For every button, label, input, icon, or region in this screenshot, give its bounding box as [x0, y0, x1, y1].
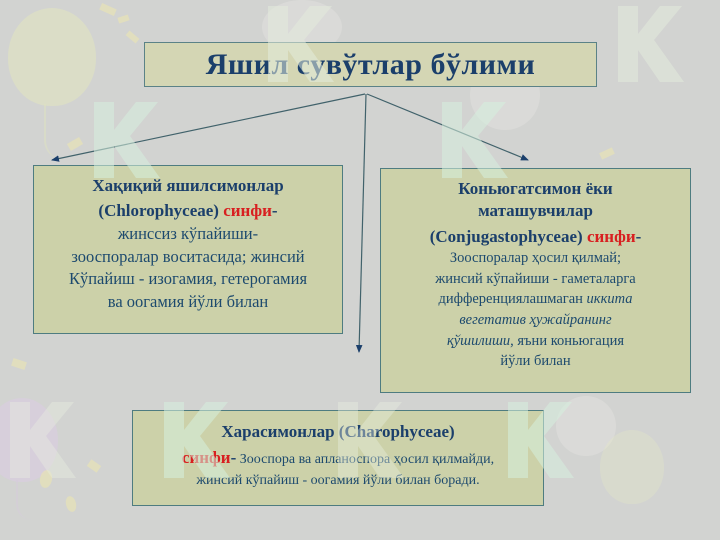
arrow-to-charophyceae [359, 94, 366, 352]
confetti-shape [87, 459, 101, 472]
conjugatophyceae-line-2: жинсий кўпайиши - гаметаларга [385, 269, 686, 290]
conjugatophyceae-accent-word: синфи [587, 227, 636, 246]
charophyceae-heading: Харасимонлар (Charophyceae) [139, 421, 537, 443]
confetti-shape [117, 14, 129, 23]
balloon-decoration [8, 8, 96, 106]
confetti-shape [67, 137, 83, 151]
chlorophyceae-line-2: зооспоралар воситасида; жинсий [40, 246, 336, 269]
balloon-string [44, 104, 64, 160]
chlorophyceae-heading: Хақиқий яшилсимонлар [40, 175, 336, 197]
conjugatophyceae-latin-line: (Conjugastophyceae) синфи- [385, 226, 686, 248]
confetti-shape [64, 495, 78, 513]
charophyceae-line-2: жинсий кўпайиш - оогамия йўли билан бора… [139, 471, 537, 491]
slide-canvas: Яшил сувўтлар бўлими Хақиқий яшилсимонла… [0, 0, 720, 540]
halo-shape [556, 396, 616, 456]
confetti-shape [39, 469, 54, 489]
balloon-string [16, 480, 32, 520]
page-title: Яшил сувўтлар бўлими [206, 50, 536, 80]
conjugatophyceae-dash: - [636, 227, 642, 246]
charophyceae-line-1: синфи- Зооспора ва апланоспора ҳосил қил… [139, 446, 537, 470]
conjugatophyceae-latin-name: (Conjugastophyceae) [430, 227, 583, 246]
charophyceae-accent-word: синфи [182, 448, 231, 467]
chlorophyceae-line-1: жинссиз кўпайиши- [40, 223, 336, 246]
content-box-charophyceae: Харасимонлар (Charophyceae) синфи- Зоосп… [132, 410, 544, 506]
charophyceae-line-1-rest: Зооспора ва апланоспора ҳосил қилмайди, [236, 452, 494, 467]
conjugatophyceae-heading-line-1: Коньюгатсимон ёки [385, 178, 686, 200]
watermark-k-logo [608, 0, 686, 88]
conjugatophyceae-line-5-rest: , яъни коньюгация [510, 333, 624, 349]
balloon-decoration [0, 398, 58, 482]
conjugatophyceae-line-1: Зооспоралар ҳосил қилмай; [385, 248, 686, 269]
confetti-shape [99, 3, 116, 16]
arrow-to-chlorophyceae [52, 94, 365, 160]
chlorophyceae-line-3: Кўпайиш - изогамия, гетерогамия [40, 268, 336, 291]
chlorophyceae-dash: - [272, 201, 278, 220]
watermark-k-logo [0, 396, 78, 484]
slide-title-box: Яшил сувўтлар бўлими [144, 42, 597, 87]
conjugatophyceae-line-3-italic: иккита [587, 291, 633, 307]
arrow-to-conjugatophyceae [367, 94, 528, 160]
conjugatophyceae-line-3: дифференциялашмаган иккита [385, 289, 686, 310]
conjugatophyceae-line-6: йўли билан [385, 351, 686, 372]
conjugatophyceae-heading-line-2: маташувчилар [385, 200, 686, 222]
chlorophyceae-accent-word: синфи [223, 201, 272, 220]
conjugatophyceae-line-4: вегетатив ҳужайранинг [385, 310, 686, 331]
chlorophyceae-latin-name: (Chlorophyceae) [98, 201, 219, 220]
content-box-conjugatophyceae: Коньюгатсимон ёки маташувчилар (Conjugas… [380, 168, 691, 393]
conjugatophyceae-line-5-italic: қўшилиши [447, 333, 510, 349]
chlorophyceae-line-4: ва оогамия йўли билан [40, 291, 336, 314]
content-box-chlorophyceae: Хақиқий яшилсимонлар (Chlorophyceae) син… [33, 165, 343, 334]
confetti-shape [11, 358, 27, 370]
confetti-shape [599, 147, 615, 159]
conjugatophyceae-line-5: қўшилиши, яъни коньюгация [385, 331, 686, 352]
confetti-shape [126, 31, 140, 44]
conjugatophyceae-line-3-prefix: дифференциялашмаган [439, 291, 587, 307]
balloon-decoration [600, 430, 664, 504]
chlorophyceae-latin-line: (Chlorophyceae) синфи- [40, 200, 336, 222]
